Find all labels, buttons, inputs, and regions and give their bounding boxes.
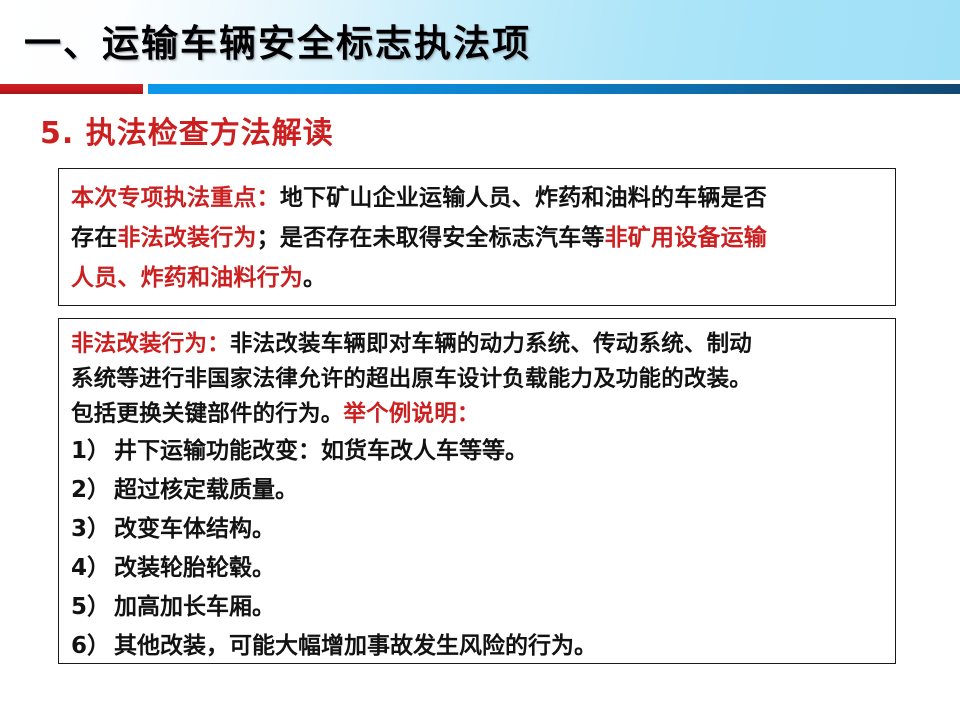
list-item-marker: 2） xyxy=(71,471,110,510)
accent-rule-red xyxy=(0,84,143,94)
definition-line-3-a: 包括更换关键部件的行为。 xyxy=(71,401,343,427)
slide-canvas: 一、运输车辆安全标志执法项 5. 执法检查方法解读 本次专项执法重点：地下矿山企… xyxy=(0,0,960,720)
focus-line-1-label: 本次专项执法重点： xyxy=(71,185,280,211)
list-item: 2）超过核定载质量。 xyxy=(71,471,883,510)
definition-line-2-text: 系统等进行非国家法律允许的超出原车设计负载能力及功能的改装。 xyxy=(71,366,752,392)
list-item-text: 其他改装，可能大幅增加事故发生风险的行为。 xyxy=(114,633,597,659)
focus-line-1: 本次专项执法重点：地下矿山企业运输人员、炸药和油料的车辆是否 xyxy=(71,178,883,218)
focus-line-2-a: 存在 xyxy=(71,225,117,251)
focus-line-2-c: ；是否存在未取得安全标志汽车等 xyxy=(257,225,605,251)
header-banner: 一、运输车辆安全标志执法项 xyxy=(0,0,960,80)
list-item-marker: 1） xyxy=(71,432,110,471)
definition-text-box: 非法改装行为：非法改装车辆即对车辆的动力系统、传动系统、制动 系统等进行非国家法… xyxy=(58,318,896,664)
list-item-text: 超过核定载质量。 xyxy=(114,477,298,503)
list-item-marker: 4） xyxy=(71,549,110,588)
list-item-marker: 3） xyxy=(71,510,110,549)
list-item-text: 加高加长车厢。 xyxy=(114,594,275,620)
focus-line-2-b: 非法改装行为 xyxy=(117,225,256,251)
list-item-text: 改装轮胎轮毂。 xyxy=(114,555,275,581)
page-title: 一、运输车辆安全标志执法项 xyxy=(24,13,531,67)
list-item-marker: 5） xyxy=(71,588,110,627)
definition-line-1-body: 非法改装车辆即对车辆的动力系统、传动系统、制动 xyxy=(230,331,752,357)
list-item: 1）井下运输功能改变：如货车改人车等等。 xyxy=(71,432,883,471)
list-item-text: 井下运输功能改变：如货车改人车等等。 xyxy=(114,438,528,464)
list-item: 4）改装轮胎轮毂。 xyxy=(71,549,883,588)
definition-line-2: 系统等进行非国家法律允许的超出原车设计负载能力及功能的改装。 xyxy=(71,362,883,397)
list-item-text: 改变车体结构。 xyxy=(114,516,275,542)
definition-line-3: 包括更换关键部件的行为。举个例说明： xyxy=(71,397,883,432)
definition-line-3-b: 举个例说明： xyxy=(343,401,479,427)
accent-rule-blue xyxy=(148,84,960,94)
section-heading: 5. 执法检查方法解读 xyxy=(40,108,334,152)
definition-line-1: 非法改装行为：非法改装车辆即对车辆的动力系统、传动系统、制动 xyxy=(71,327,883,362)
list-item: 5）加高加长车厢。 xyxy=(71,588,883,627)
focus-line-3: 人员、炸药和油料行为。 xyxy=(71,258,883,298)
definition-line-1-label: 非法改装行为： xyxy=(71,331,230,357)
list-item: 3）改变车体结构。 xyxy=(71,510,883,549)
focus-text-box: 本次专项执法重点：地下矿山企业运输人员、炸药和油料的车辆是否 存在非法改装行为；… xyxy=(58,168,896,306)
focus-line-2: 存在非法改装行为；是否存在未取得安全标志汽车等非矿用设备运输 xyxy=(71,218,883,258)
focus-line-1-body: 地下矿山企业运输人员、炸药和油料的车辆是否 xyxy=(280,185,767,211)
focus-line-3-b: 。 xyxy=(303,265,326,291)
list-item: 6）其他改装，可能大幅增加事故发生风险的行为。 xyxy=(71,627,883,666)
list-item-marker: 6） xyxy=(71,627,110,666)
focus-line-3-a: 人员、炸药和油料行为 xyxy=(71,265,303,291)
focus-line-2-d: 非矿用设备运输 xyxy=(605,225,767,251)
